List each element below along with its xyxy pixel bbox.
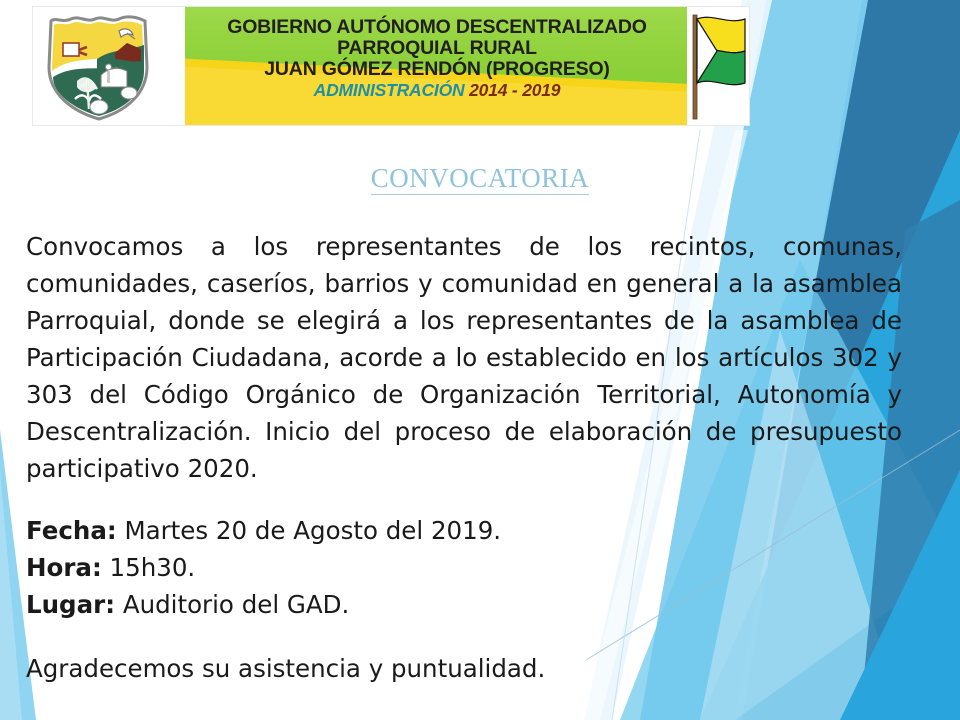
detail-value-hora: 15h30. [110, 553, 196, 582]
detail-label-fecha: Fecha: [26, 516, 117, 545]
institution-banner: GOBIERNO AUTÓNOMO DESCENTRALIZADO PARROQ… [32, 6, 750, 126]
event-details: Fecha: Martes 20 de Agosto del 2019. Hor… [26, 512, 726, 623]
detail-value-fecha: Martes 20 de Agosto del 2019. [124, 516, 501, 545]
coat-of-arms-icon [41, 13, 176, 123]
left-blue-wedge-soft [0, 470, 22, 720]
document-title: CONVOCATORIA [0, 163, 960, 194]
convocation-paragraph: Convocamos a los representantes de los r… [26, 228, 902, 487]
detail-label-hora: Hora: [26, 553, 102, 582]
detail-row-lugar: Lugar: Auditorio del GAD. [26, 586, 726, 623]
banner-line-3: JUAN GÓMEZ RENDÓN (PROGRESO) [185, 60, 689, 80]
detail-label-lugar: Lugar: [26, 590, 115, 619]
detail-row-hora: Hora: 15h30. [26, 549, 726, 586]
right-bright-lower [840, 470, 960, 720]
document-title-text: CONVOCATORIA [371, 163, 590, 195]
banner-line-1: GOBIERNO AUTÓNOMO DESCENTRALIZADO [185, 18, 689, 38]
banner-administration-line: ADMINISTRACIÓN 2014 - 2019 [185, 82, 689, 100]
parish-flag-icon [687, 11, 747, 123]
closing-line: Agradecemos su asistencia y puntualidad. [26, 652, 786, 686]
slide-canvas: GOBIERNO AUTÓNOMO DESCENTRALIZADO PARROQ… [0, 0, 960, 720]
administration-years: 2014 - 2019 [469, 80, 560, 100]
banner-line-2: PARROQUIAL RURAL [185, 39, 689, 59]
banner-title-block: GOBIERNO AUTÓNOMO DESCENTRALIZADO PARROQ… [185, 9, 689, 99]
detail-value-lugar: Auditorio del GAD. [123, 590, 350, 619]
administration-label: ADMINISTRACIÓN [314, 80, 465, 100]
detail-row-fecha: Fecha: Martes 20 de Agosto del 2019. [26, 512, 726, 549]
